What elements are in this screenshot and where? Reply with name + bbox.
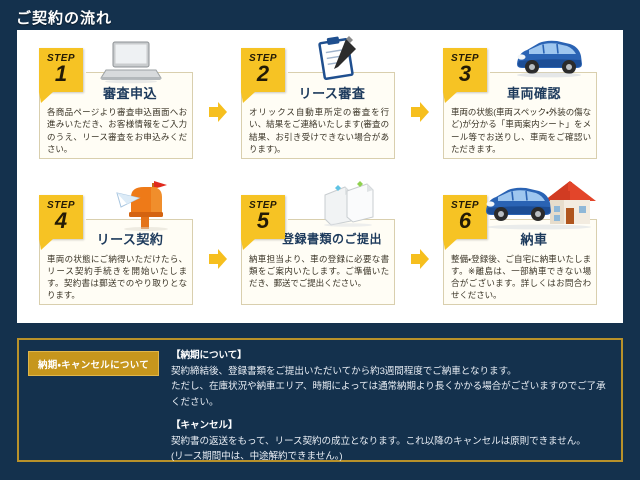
steps-panel: STEP 1 審査申込 各商品ページより審査申込画面へお進みいただき、お客様情報… xyxy=(17,30,623,323)
documents-icon xyxy=(319,181,377,227)
step-badge-number-2: 2 xyxy=(241,63,285,85)
step-badge-6: STEP 6 xyxy=(443,195,487,239)
flow-arrow-icon-4 xyxy=(411,249,429,269)
step-text-2: オリックス自動車所定の審査を行い、結果をご連絡いたします(審査の結果、お引き受け… xyxy=(249,106,389,155)
step-badge-number-3: 3 xyxy=(443,63,487,85)
step-title-5: 登録書類のご提出 xyxy=(265,227,399,251)
step-badge-number-4: 4 xyxy=(39,210,83,232)
badge-tail-2 xyxy=(241,92,255,103)
step-badge-3: STEP 3 xyxy=(443,48,487,92)
notice-panel: 納期・キャンセルについて 【納期について】 契約締結後、登録書類をご提出いただい… xyxy=(17,338,623,462)
notice-cancel-line-1: 契約書の返送をもって、リース契約の成立となります。これ以降のキャンセルは原則でき… xyxy=(171,434,613,450)
step-cell-6: STEP 6 xyxy=(421,177,623,324)
step-cell-2: STEP 2 リース審査 オリックス自動 xyxy=(219,30,421,177)
step-text-4: 車両の状態にご納得いただけたら、リース契約手続きを開始いたします。契約書は郵送で… xyxy=(47,253,187,302)
step-text-3: 車両の状態(車両スペック・外装の傷など)が分かる「車両案内シート」をメール等でお… xyxy=(451,106,591,155)
badge-tail-1 xyxy=(39,92,53,103)
laptop-icon xyxy=(100,40,162,84)
steps-grid: STEP 1 審査申込 各商品ページより審査申込画面へお進みいただき、お客様情報… xyxy=(17,30,623,323)
flow-arrow-icon-1 xyxy=(209,102,227,122)
step-cell-1: STEP 1 審査申込 各商品ページより審査申込画面へお進みいただき、お客様情報… xyxy=(17,30,219,177)
notice-delivery-line-2: ただし、在庫状況や納車エリア、時期によっては通常納期より長くかかる場合がございま… xyxy=(171,379,613,410)
step-badge-number-1: 1 xyxy=(39,63,83,85)
step-badge-number-5: 5 xyxy=(241,210,285,232)
notice-label: 納期・キャンセルについて xyxy=(28,351,159,376)
flow-arrow-icon-2 xyxy=(411,102,429,122)
car-icon xyxy=(513,34,585,78)
flow-arrow-icon-3 xyxy=(209,249,227,269)
notice-delivery-heading: 【納期について】 xyxy=(171,348,613,364)
notice-body: 【納期について】 契約締結後、登録書類をご提出いただいてから約3週間程度でご納車… xyxy=(171,348,613,465)
badge-tail-5 xyxy=(241,239,255,250)
notice-cancel-line-2: (リース期間中は、中途解約できません。) xyxy=(171,449,613,465)
step-badge-4: STEP 4 xyxy=(39,195,83,239)
clipboard-icon xyxy=(312,35,360,83)
badge-tail-3 xyxy=(443,92,457,103)
step-text-1: 各商品ページより審査申込画面へお進みいただき、お客様情報をご入力のうえ、リース審… xyxy=(47,106,187,155)
page-title: ご契約の流れ xyxy=(16,7,112,28)
step-cell-3: STEP 3 車両確認 車両の状態(車両スペック・外装の傷など)が分かる「車両案… xyxy=(421,30,623,177)
mailbox-icon xyxy=(115,179,177,231)
badge-tail-6 xyxy=(443,239,457,250)
step-title-3: 車両確認 xyxy=(467,80,601,104)
step-text-5: 納車担当より、車の登録に必要な書類をご案内いたします。ご準備いただき、郵送でご提… xyxy=(249,253,389,290)
step-cell-5: STEP 5 登録書類のご提出 納車担当より、車の登録に必要な書類をご案内いたし… xyxy=(219,177,421,324)
notice-cancel-heading: 【キャンセル】 xyxy=(171,418,613,434)
step-badge-2: STEP 2 xyxy=(241,48,285,92)
notice-spacer xyxy=(171,410,613,418)
step-badge-number-6: 6 xyxy=(443,210,487,232)
step-badge-5: STEP 5 xyxy=(241,195,285,239)
step-cell-4: STEP 4 リース契約 車両の状態にご納得いただけたら、リ xyxy=(17,177,219,324)
step-badge-1: STEP 1 xyxy=(39,48,83,92)
contract-flow-page: ご契約の流れ STEP 1 審査申込 xyxy=(0,0,640,480)
car-house-icon xyxy=(484,179,600,231)
notice-delivery-line-1: 契約締結後、登録書類をご提出いただいてから約3週間程度でご納車となります。 xyxy=(171,364,613,380)
badge-tail-4 xyxy=(39,239,53,250)
step-text-6: 整備・登録後、ご自宅に納車いたします。※離島は、一部納車できない場合がございます… xyxy=(451,253,591,302)
step-title-2: リース審査 xyxy=(265,80,399,104)
